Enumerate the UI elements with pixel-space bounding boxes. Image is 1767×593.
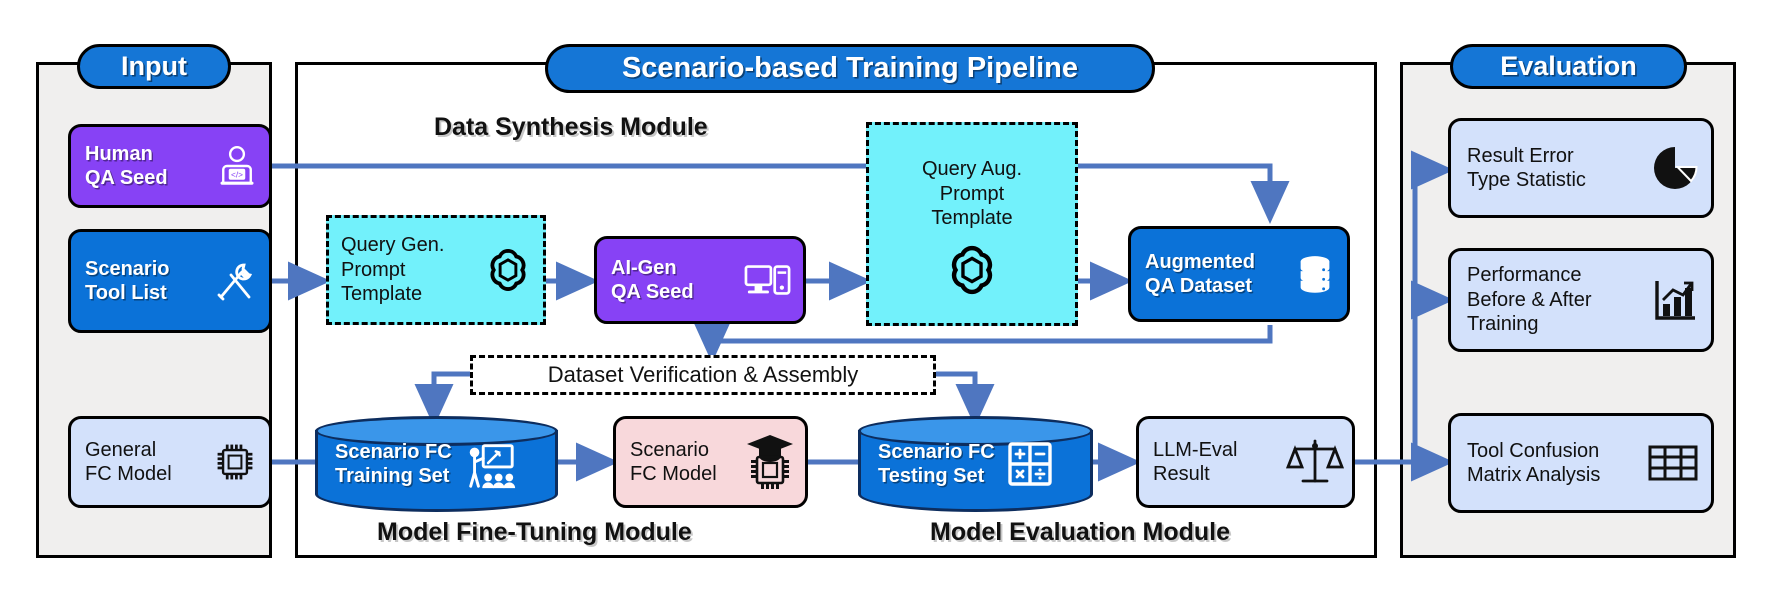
screwdriver-wrench-icon <box>211 257 259 305</box>
node-ai-gen-qa-seed[interactable]: AI-Gen QA Seed <box>594 236 806 324</box>
balance-scale-icon <box>1286 435 1344 489</box>
model-evaluation-module-label: Model Evaluation Module <box>930 518 1230 547</box>
node-augmented-qa-dataset-label: Augmented QA Dataset <box>1145 250 1255 299</box>
node-performance-before-after-training-label: Performance Before & After Training <box>1467 263 1592 336</box>
node-performance-before-after-training[interactable]: Performance Before & After Training <box>1448 248 1714 352</box>
openai-logo-icon <box>869 239 1075 301</box>
node-dataset-verification-assembly[interactable]: Dataset Verification & Assembly <box>470 355 936 395</box>
pipeline-section-title: Scenario-based Training Pipeline <box>545 44 1155 93</box>
node-scenario-tool-list[interactable]: Scenario Tool List <box>68 229 272 333</box>
node-query-gen-prompt-template[interactable]: Query Gen. Prompt Template <box>326 215 546 325</box>
node-human-qa-seed[interactable]: Human QA Seed </> <box>68 124 272 208</box>
node-llm-eval-result[interactable]: LLM-Eval Result <box>1136 416 1355 508</box>
node-scenario-fc-training-set-label: Scenario FC Training Set <box>335 440 452 489</box>
svg-text:</>: </> <box>231 170 243 179</box>
node-general-fc-model-label: General FC Model <box>85 438 172 487</box>
node-query-gen-prompt-template-label: Query Gen. Prompt Template <box>341 233 444 306</box>
node-scenario-fc-model-label: Scenario FC Model <box>630 438 717 487</box>
table-grid-icon <box>1647 441 1699 485</box>
input-section-title: Input <box>77 44 231 89</box>
pie-chart-icon <box>1651 144 1699 192</box>
fine-tuning-module-label: Model Fine-Tuning Module <box>377 518 692 547</box>
openai-logo-icon <box>481 243 535 297</box>
data-synthesis-module-label: Data Synthesis Module <box>434 113 708 142</box>
node-llm-eval-result-label: LLM-Eval Result <box>1153 438 1237 487</box>
node-augmented-qa-dataset[interactable]: Augmented QA Dataset <box>1128 226 1350 322</box>
bar-chart-growth-icon <box>1651 276 1699 324</box>
desktop-computer-icon <box>743 257 793 303</box>
diagram-canvas: Input Scenario-based Training Pipeline E… <box>0 0 1767 593</box>
node-scenario-tool-list-label: Scenario Tool List <box>85 257 169 306</box>
node-ai-gen-qa-seed-label: AI-Gen QA Seed <box>611 256 694 305</box>
node-scenario-fc-model[interactable]: Scenario FC Model <box>613 416 808 508</box>
node-query-aug-prompt-template-label: Query Aug. Prompt Template <box>869 157 1075 230</box>
database-icon <box>1293 251 1337 297</box>
node-result-error-type-statistic-label: Result Error Type Statistic <box>1467 144 1586 193</box>
node-query-aug-prompt-template[interactable]: Query Aug. Prompt Template <box>866 122 1078 326</box>
node-human-qa-seed-label: Human QA Seed <box>85 142 168 191</box>
teacher-presentation-icon <box>462 436 518 492</box>
node-tool-confusion-matrix-analysis[interactable]: Tool Confusion Matrix Analysis <box>1448 413 1714 513</box>
person-laptop-code-icon: </> <box>215 144 259 188</box>
node-tool-confusion-matrix-analysis-label: Tool Confusion Matrix Analysis <box>1467 439 1600 488</box>
evaluation-section-title: Evaluation <box>1450 44 1687 89</box>
node-scenario-fc-testing-set[interactable]: Scenario FC Testing Set <box>858 416 1093 512</box>
node-result-error-type-statistic[interactable]: Result Error Type Statistic <box>1448 118 1714 218</box>
calculator-icon <box>1005 439 1055 489</box>
node-scenario-fc-testing-set-label: Scenario FC Testing Set <box>878 440 995 489</box>
graduation-chip-icon <box>743 431 797 493</box>
microchip-icon <box>213 440 257 484</box>
node-general-fc-model[interactable]: General FC Model <box>68 416 272 508</box>
node-scenario-fc-training-set[interactable]: Scenario FC Training Set <box>315 416 558 512</box>
node-dataset-verification-assembly-label: Dataset Verification & Assembly <box>548 362 859 389</box>
